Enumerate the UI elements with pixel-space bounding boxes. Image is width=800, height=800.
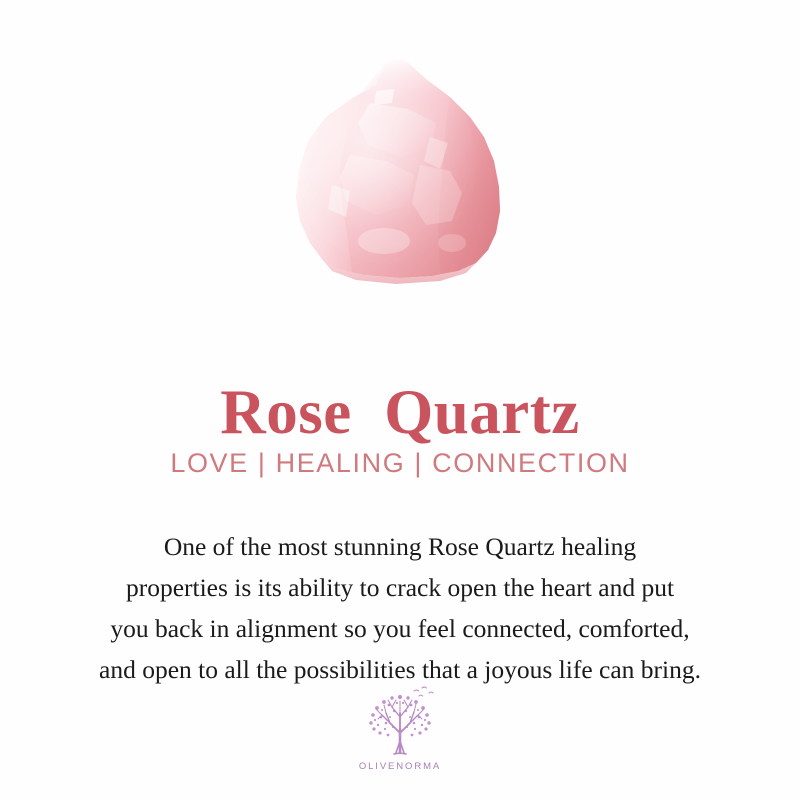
brand-logo: OLIVENORMA bbox=[0, 683, 800, 772]
product-info-card: Rose Quartz LOVE | HEALING | CONNECTION … bbox=[0, 0, 800, 800]
tree-of-life-icon bbox=[356, 683, 444, 759]
page-title: Rose Quartz bbox=[0, 377, 800, 447]
keyword-tagline: LOVE | HEALING | CONNECTION bbox=[0, 447, 800, 479]
description-paragraph: One of the most stunning Rose Quartz hea… bbox=[0, 526, 800, 690]
rose-quartz-crystal-image bbox=[280, 45, 520, 290]
hero-image-area bbox=[0, 0, 800, 300]
brand-wordmark: OLIVENORMA bbox=[0, 761, 800, 772]
crystal-glow bbox=[292, 63, 476, 263]
birds-icon bbox=[414, 687, 433, 696]
